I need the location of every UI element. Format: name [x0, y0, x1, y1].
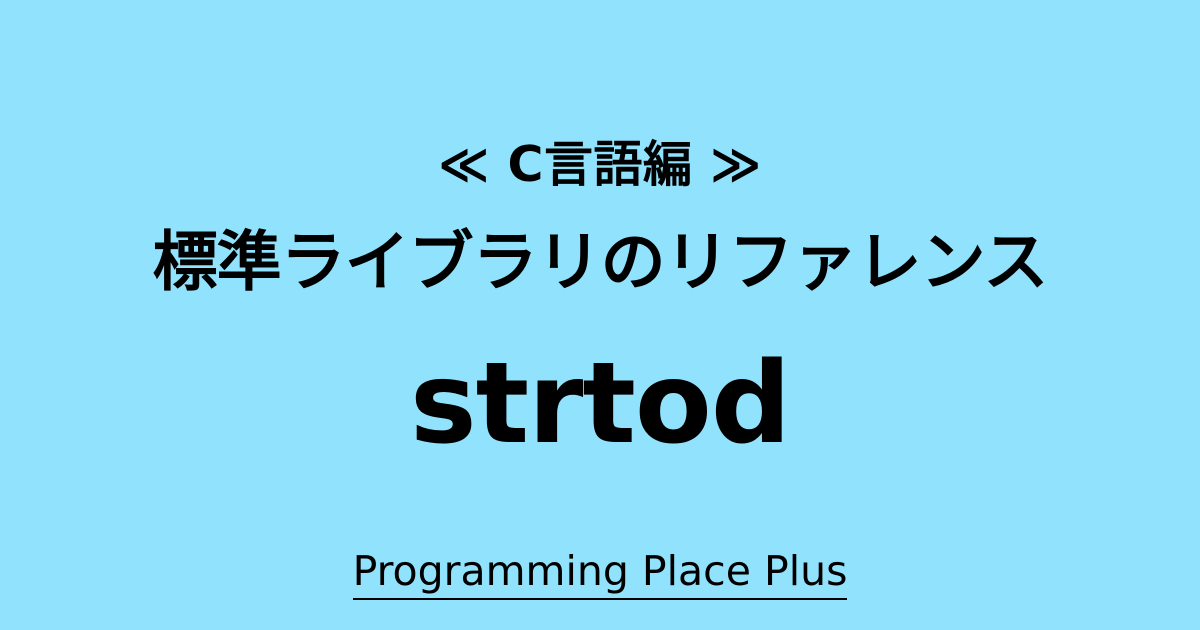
series-label: ≪ C言語編 ≫ [0, 140, 1200, 189]
title-card: ≪ C言語編 ≫ 標準ライブラリのリファレンス strtod Programmi… [0, 0, 1200, 630]
footer: Programming Place Plus [0, 548, 1200, 600]
site-name-link[interactable]: Programming Place Plus [353, 548, 848, 600]
page-title: strtod [0, 348, 1200, 460]
subtitle: 標準ライブラリのリファレンス [0, 230, 1200, 295]
